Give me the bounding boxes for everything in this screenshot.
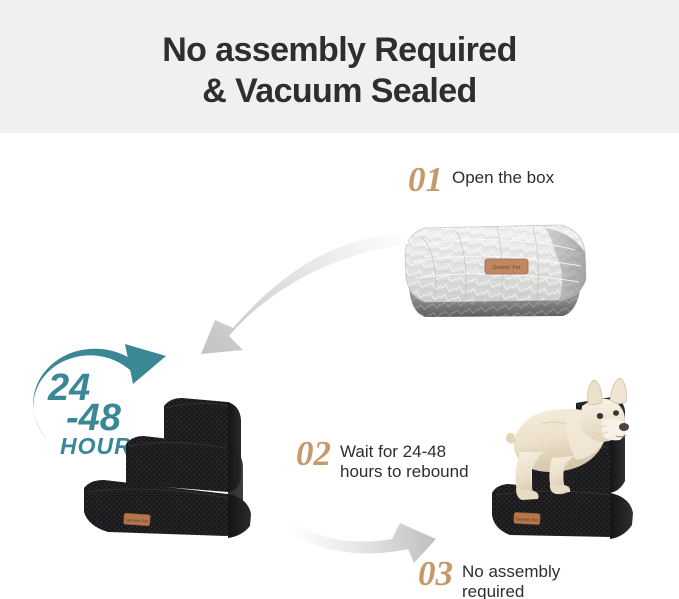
stairs-brand-tag: Generic Pet <box>124 513 151 526</box>
arrow-box-to-stairs <box>185 228 410 358</box>
step-label-03: No assembly required <box>462 557 560 599</box>
page-title: No assembly Required & Vacuum Sealed <box>0 30 679 112</box>
step-label-02: Wait for 24-48 hours to rebound <box>340 437 469 482</box>
package-brand-tag: Generic Pet <box>485 259 528 274</box>
french-bulldog <box>496 372 631 512</box>
step-wait-to-rebound: 02 Wait for 24-48 hours to rebound <box>296 437 469 482</box>
stairs-brand-tag: Generic Pet <box>514 512 541 524</box>
step-number-03: 03 <box>418 557 453 591</box>
header-band: No assembly Required & Vacuum Sealed <box>0 0 679 133</box>
vacuum-sealed-package: Generic Pet <box>395 216 595 329</box>
dog-eye-left <box>597 413 603 419</box>
dog-eye-right <box>613 410 619 416</box>
dog-ear-left <box>588 380 602 405</box>
title-line-1: No assembly Required <box>162 31 517 69</box>
arrow-shape <box>290 521 436 563</box>
step-no-assembly-required: 03 No assembly required <box>418 557 560 599</box>
step-label-01: Open the box <box>452 163 554 188</box>
step-number-01: 01 <box>408 163 443 197</box>
dog-front-paw <box>550 484 570 494</box>
dog-tail <box>506 433 516 444</box>
arrow-shape <box>201 232 408 354</box>
svg-text:Generic Pet: Generic Pet <box>493 265 521 271</box>
dog-nose <box>619 423 629 431</box>
step-open-the-box: 01 Open the box <box>408 163 554 197</box>
title-line-2: & Vacuum Sealed <box>0 71 679 112</box>
infographic-page: No assembly Required & Vacuum Sealed 01 … <box>0 0 679 599</box>
pet-stairs-compressed: Generic Pet <box>78 388 298 546</box>
dog-ear-right <box>610 378 626 404</box>
step-number-02: 02 <box>296 437 331 471</box>
